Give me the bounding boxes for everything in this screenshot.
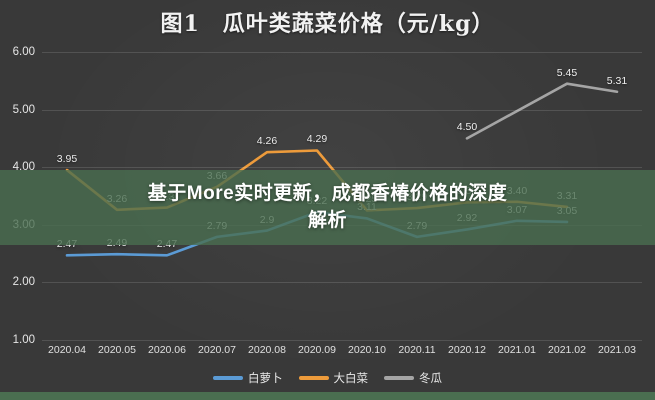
y-axis-tick-label: 6.00	[13, 46, 35, 58]
legend-swatch-icon	[213, 376, 243, 380]
x-axis-tick-label: 2020.05	[98, 344, 136, 356]
x-axis-tick-label: 2020.06	[148, 344, 186, 356]
x-axis-tick-label: 2020.11	[398, 344, 435, 356]
x-axis-tick-label: 2021.02	[548, 344, 586, 356]
y-axis-tick-label: 1.00	[13, 334, 35, 346]
gridline	[42, 110, 642, 111]
x-axis-tick-label: 2021.01	[498, 344, 536, 356]
legend-label: 白萝卜	[248, 370, 283, 386]
overlay-caption: 基于More实时更新，成都香椿价格的深度 解析	[0, 170, 655, 245]
y-axis-tick-label: 2.00	[13, 276, 35, 288]
chart-legend: 白萝卜大白菜冬瓜	[0, 370, 655, 386]
bottom-accent-strip	[0, 392, 655, 400]
x-axis-tick-label: 2020.09	[298, 344, 336, 356]
x-axis-tick-label: 2020.07	[198, 344, 236, 356]
legend-item-冬瓜[interactable]: 冬瓜	[384, 370, 442, 386]
gridline	[42, 340, 642, 341]
x-axis-tick-label: 2020.12	[448, 344, 486, 356]
x-axis-tick-label: 2020.10	[348, 344, 386, 356]
gridline	[42, 282, 642, 283]
gridline	[42, 52, 642, 53]
series-line-冬瓜	[467, 84, 617, 139]
legend-label: 冬瓜	[419, 370, 442, 386]
legend-label: 大白菜	[334, 370, 369, 386]
overlay-caption-line-1: 基于More实时更新，成都香椿价格的深度	[148, 181, 507, 207]
y-axis-tick-label: 5.00	[13, 104, 35, 116]
legend-item-白萝卜[interactable]: 白萝卜	[213, 370, 283, 386]
gridline	[42, 167, 642, 168]
x-axis-tick-label: 2021.03	[598, 344, 636, 356]
x-axis-tick-label: 2020.04	[48, 344, 86, 356]
x-axis-tick-label: 2020.08	[248, 344, 286, 356]
overlay-caption-line-2: 解析	[308, 208, 347, 234]
legend-swatch-icon	[384, 376, 414, 380]
chart-container: 图1 瓜叶类蔬菜价格（元/kg） 6.005.004.003.002.001.0…	[0, 0, 655, 400]
chart-title: 图1 瓜叶类蔬菜价格（元/kg）	[0, 6, 655, 38]
legend-item-大白菜[interactable]: 大白菜	[299, 370, 369, 386]
legend-swatch-icon	[299, 376, 329, 380]
